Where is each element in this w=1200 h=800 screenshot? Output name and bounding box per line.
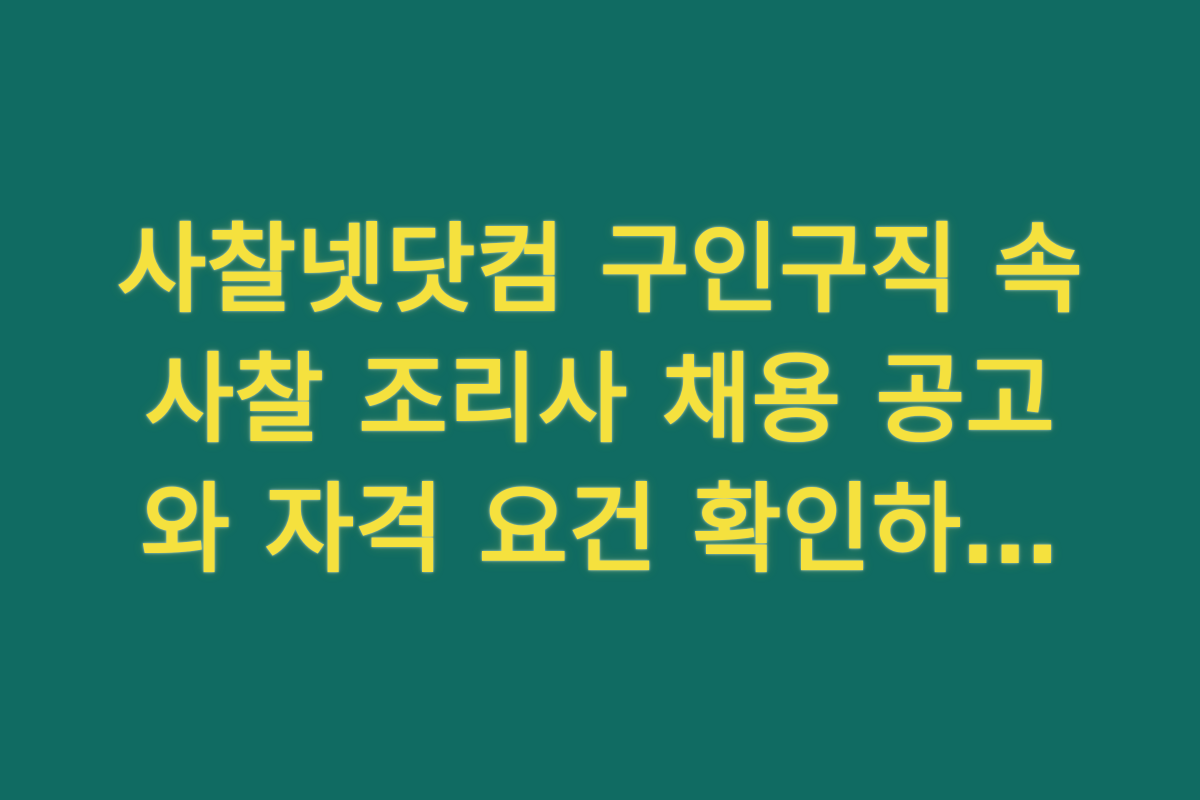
social-share-card: 사찰넷닷컴 구인구직 속 사찰 조리사 채용 공고 와 자격 요건 확인하… — [0, 0, 1200, 800]
headline-line-2: 사찰 조리사 채용 공고 — [88, 335, 1112, 465]
headline-line-1: 사찰넷닷컴 구인구직 속 — [88, 205, 1112, 335]
headline: 사찰넷닷컴 구인구직 속 사찰 조리사 채용 공고 와 자격 요건 확인하… — [80, 205, 1120, 595]
headline-line-3: 와 자격 요건 확인하… — [88, 465, 1112, 595]
